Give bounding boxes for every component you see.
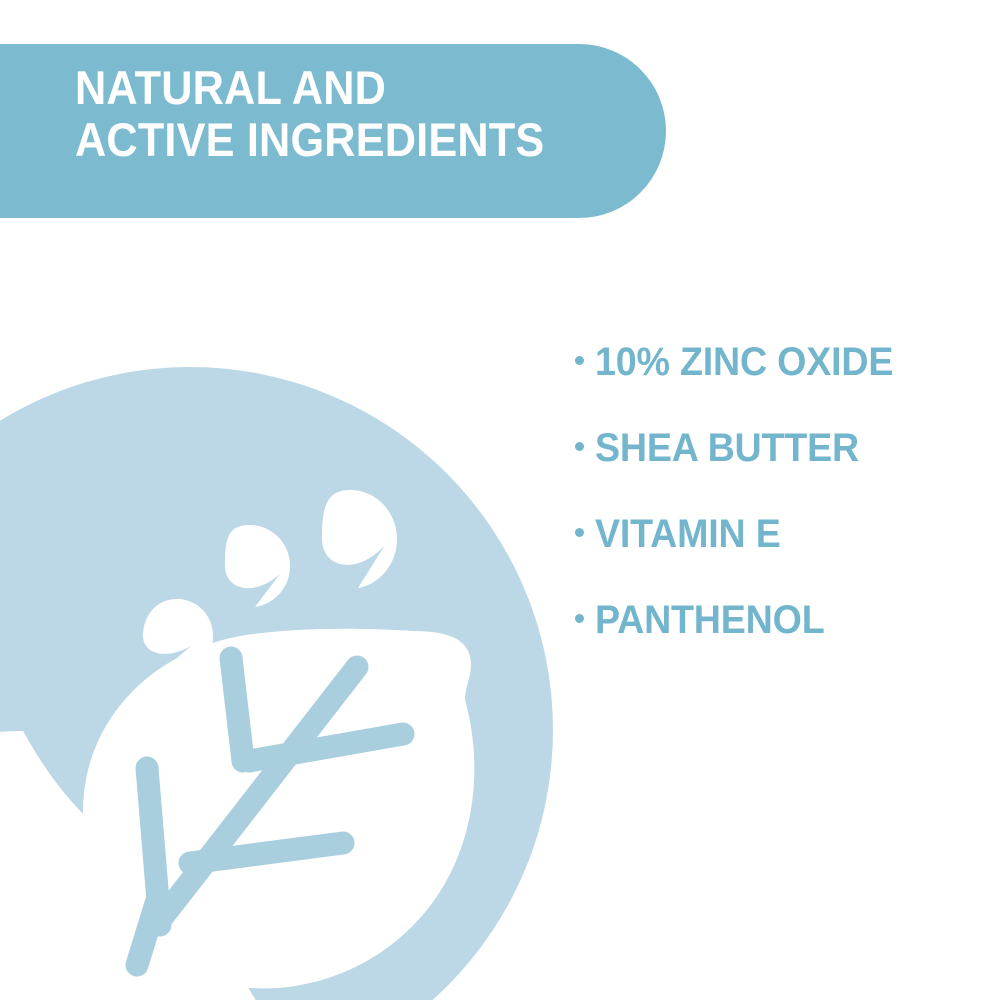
- ingredient-label-shea-butter: SHEA BUTTER: [595, 428, 859, 468]
- page-title: NATURAL AND ACTIVE INGREDIENTS: [75, 62, 645, 166]
- bullet-dot-icon: [575, 614, 584, 623]
- botanical-illustration: [0, 365, 555, 1000]
- list-item: VITAMIN E: [575, 514, 985, 600]
- ingredient-label-zinc-oxide: 10% ZINC OXIDE: [595, 342, 893, 382]
- botanical-illustration-svg: [0, 365, 555, 1000]
- infographic-canvas: NATURAL AND ACTIVE INGREDIENTS: [0, 0, 1000, 1000]
- leaf-vein-branch-upper-stub: [231, 658, 243, 761]
- ingredient-list: 10% ZINC OXIDE SHEA BUTTER VITAMIN E PAN…: [575, 342, 985, 686]
- ingredient-label-vitamin-e: VITAMIN E: [595, 514, 781, 554]
- bullet-dot-icon: [575, 442, 584, 451]
- list-item: PANTHENOL: [575, 600, 985, 686]
- list-item: SHEA BUTTER: [575, 428, 985, 514]
- list-item: 10% ZINC OXIDE: [575, 342, 985, 428]
- bullet-dot-icon: [575, 528, 584, 537]
- ingredient-label-panthenol: PANTHENOL: [595, 600, 824, 640]
- bullet-dot-icon: [575, 356, 584, 365]
